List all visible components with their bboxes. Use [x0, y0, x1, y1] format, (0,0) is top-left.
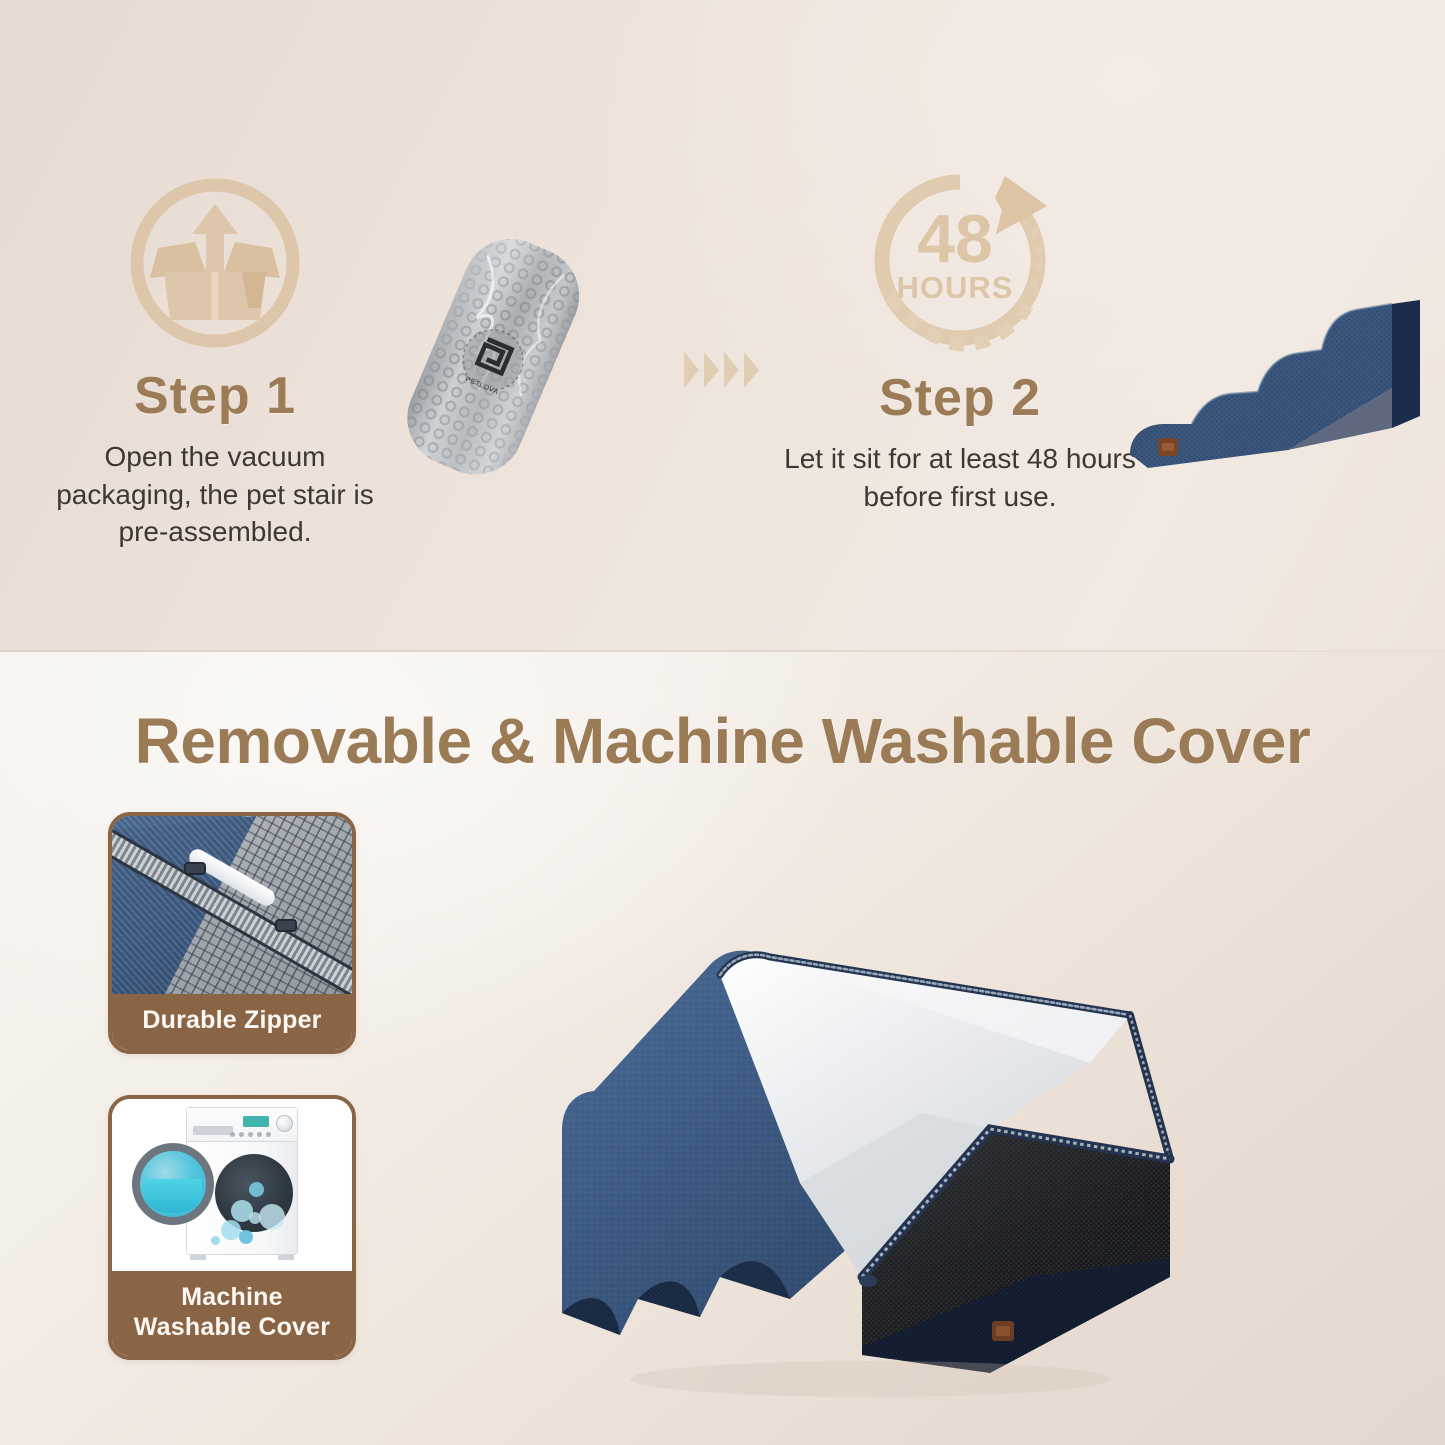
soap-bubble	[211, 1236, 220, 1245]
washer-buttons	[230, 1132, 271, 1137]
setup-steps-section: Step 1 Open the vacuum packaging, the pe…	[0, 0, 1445, 652]
chevron-right-icon	[684, 352, 759, 388]
badge-unit-text: HOURS	[897, 270, 1014, 305]
feature-card-label: Machine Washable Cover	[112, 1271, 352, 1356]
washer-door	[132, 1143, 214, 1225]
step-2-description: Let it sit for at least 48 hours before …	[765, 440, 1155, 515]
zipper-closeup-photo	[112, 816, 352, 994]
zipper-pull	[184, 862, 206, 875]
step-2-block: 48 HOURS Step 2 Let it sit for at least …	[765, 160, 1155, 515]
washer-display	[243, 1116, 269, 1127]
feature-card-label: Durable Zipper	[112, 994, 352, 1050]
zipper-pull	[275, 919, 297, 932]
open-box-arrow-icon	[40, 168, 390, 358]
washable-cover-section: Removable & Machine Washable Cover Durab…	[0, 652, 1445, 1445]
chevron-right-icon	[724, 352, 739, 388]
feature-card-machine-washable: Machine Washable Cover	[108, 1095, 356, 1360]
soap-bubble	[239, 1230, 253, 1244]
feature-card-label-line2: Washable Cover	[134, 1313, 330, 1341]
vacuum-packed-roll-image: PETLOVA	[386, 218, 590, 476]
page-title: Removable & Machine Washable Cover	[0, 704, 1445, 778]
washer-dial	[276, 1115, 293, 1132]
step-1-title: Step 1	[40, 366, 390, 426]
chevron-right-icon	[744, 352, 759, 388]
washing-machine-illustration	[112, 1099, 352, 1271]
pet-stair-cover-peeled-photo	[470, 807, 1230, 1427]
washer-feet	[186, 1255, 298, 1260]
chevron-right-icon	[684, 352, 699, 388]
soap-bubble	[221, 1220, 241, 1240]
feature-card-label-line1: Machine	[181, 1283, 282, 1311]
48-hours-clock-icon: 48 HOURS	[765, 160, 1155, 360]
feature-card-durable-zipper: Durable Zipper	[108, 812, 356, 1054]
product-infographic: Step 1 Open the vacuum packaging, the pe…	[0, 0, 1445, 1445]
badge-number-text: 48	[917, 201, 993, 277]
washer-control-panel	[187, 1108, 297, 1142]
step-2-title: Step 2	[765, 368, 1155, 428]
pet-stair-image	[1108, 238, 1445, 493]
soap-bubble	[249, 1212, 261, 1224]
step-1-description: Open the vacuum packaging, the pet stair…	[40, 438, 390, 551]
chevron-right-icon	[704, 352, 719, 388]
step-1-block: Step 1 Open the vacuum packaging, the pe…	[40, 168, 390, 551]
detergent-drawer	[193, 1126, 233, 1135]
